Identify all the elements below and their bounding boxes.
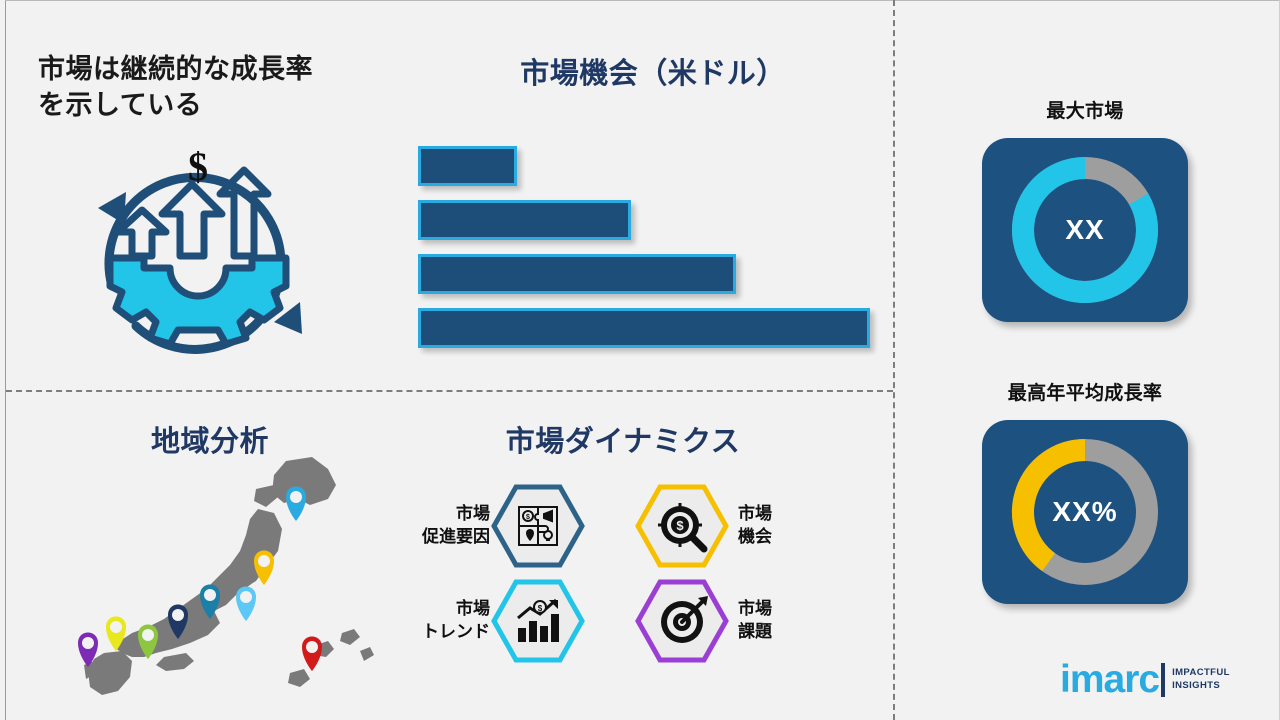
- dynamics-item-trends[interactable]: 市場 トレンド $: [398, 578, 586, 664]
- dynamics-section: 市場ダイナミクス: [398, 418, 848, 460]
- infographic-slide: 市場は継続的な成長率 を示している $ 市場機会（米ドル）: [0, 0, 1280, 720]
- region-section: 地域分析: [60, 418, 360, 460]
- dynamics-item-label: 市場 促進要因: [398, 503, 490, 549]
- dynamics-item-label: 市場 機会: [738, 503, 830, 549]
- dynamics-item-opportunity[interactable]: $ 市場 機会: [634, 483, 830, 569]
- puzzle-drivers-icon: $: [490, 483, 586, 569]
- growth-gear-arrows-icon: $: [74, 136, 322, 369]
- dollar-symbol: $: [188, 144, 208, 189]
- bar-3: [418, 254, 736, 294]
- svg-text:$: $: [676, 518, 684, 533]
- largest-market-donut: XX: [982, 138, 1188, 322]
- imarc-logo[interactable]: imarc IMPACTFUL INSIGHTS: [1060, 660, 1230, 699]
- opportunity-section: 市場機会（米ドル）: [418, 50, 888, 92]
- growth-section: 市場は継続的な成長率 を示している: [38, 52, 388, 123]
- highest-cagr-title: 最高年平均成長率: [955, 378, 1215, 405]
- svg-text:$: $: [526, 514, 530, 521]
- japan-map: [60, 455, 380, 705]
- target-dart-icon: [634, 578, 730, 664]
- map-pins: [78, 487, 322, 672]
- logo-tagline-1: IMPACTFUL: [1172, 667, 1230, 680]
- dynamics-grid: 市場 促進要因 $: [398, 478, 848, 668]
- highest-cagr-donut: XX%: [982, 420, 1188, 604]
- logo-divider: [1161, 663, 1165, 697]
- dynamics-title: 市場ダイナミクス: [398, 418, 848, 460]
- opportunity-title: 市場機会（米ドル）: [418, 50, 888, 92]
- dynamics-item-challenges[interactable]: 市場 課題: [634, 578, 830, 664]
- region-title: 地域分析: [60, 418, 360, 460]
- opportunity-bar-chart: [418, 146, 870, 362]
- bar-2: [418, 200, 631, 240]
- highest-cagr-value: XX%: [982, 420, 1188, 604]
- bar-4: [418, 308, 870, 348]
- logo-wordmark: imarc: [1060, 660, 1159, 699]
- slide-top-border: [5, 0, 1280, 1]
- magnifier-target-icon: $: [634, 483, 730, 569]
- bar-chart-growth-icon: $: [490, 578, 586, 664]
- slide-left-border: [5, 0, 6, 720]
- horizontal-dashed-divider: [6, 390, 893, 392]
- dynamics-item-label: 市場 課題: [738, 598, 830, 644]
- vertical-dashed-divider: [893, 0, 895, 720]
- growth-title: 市場は継続的な成長率 を示している: [38, 52, 388, 123]
- dynamics-item-label: 市場 トレンド: [398, 598, 490, 644]
- svg-text:$: $: [538, 604, 543, 613]
- logo-tagline-2: INSIGHTS: [1172, 680, 1230, 693]
- pin-kanto: [236, 587, 256, 622]
- pin-hokkaido: [286, 487, 306, 522]
- pin-okinawa: [302, 637, 322, 672]
- dynamics-item-drivers[interactable]: 市場 促進要因 $: [398, 483, 586, 569]
- largest-market-value: XX: [982, 138, 1188, 322]
- largest-market-title: 最大市場: [955, 96, 1215, 123]
- pin-tohoku: [254, 551, 274, 586]
- bar-1: [418, 146, 517, 186]
